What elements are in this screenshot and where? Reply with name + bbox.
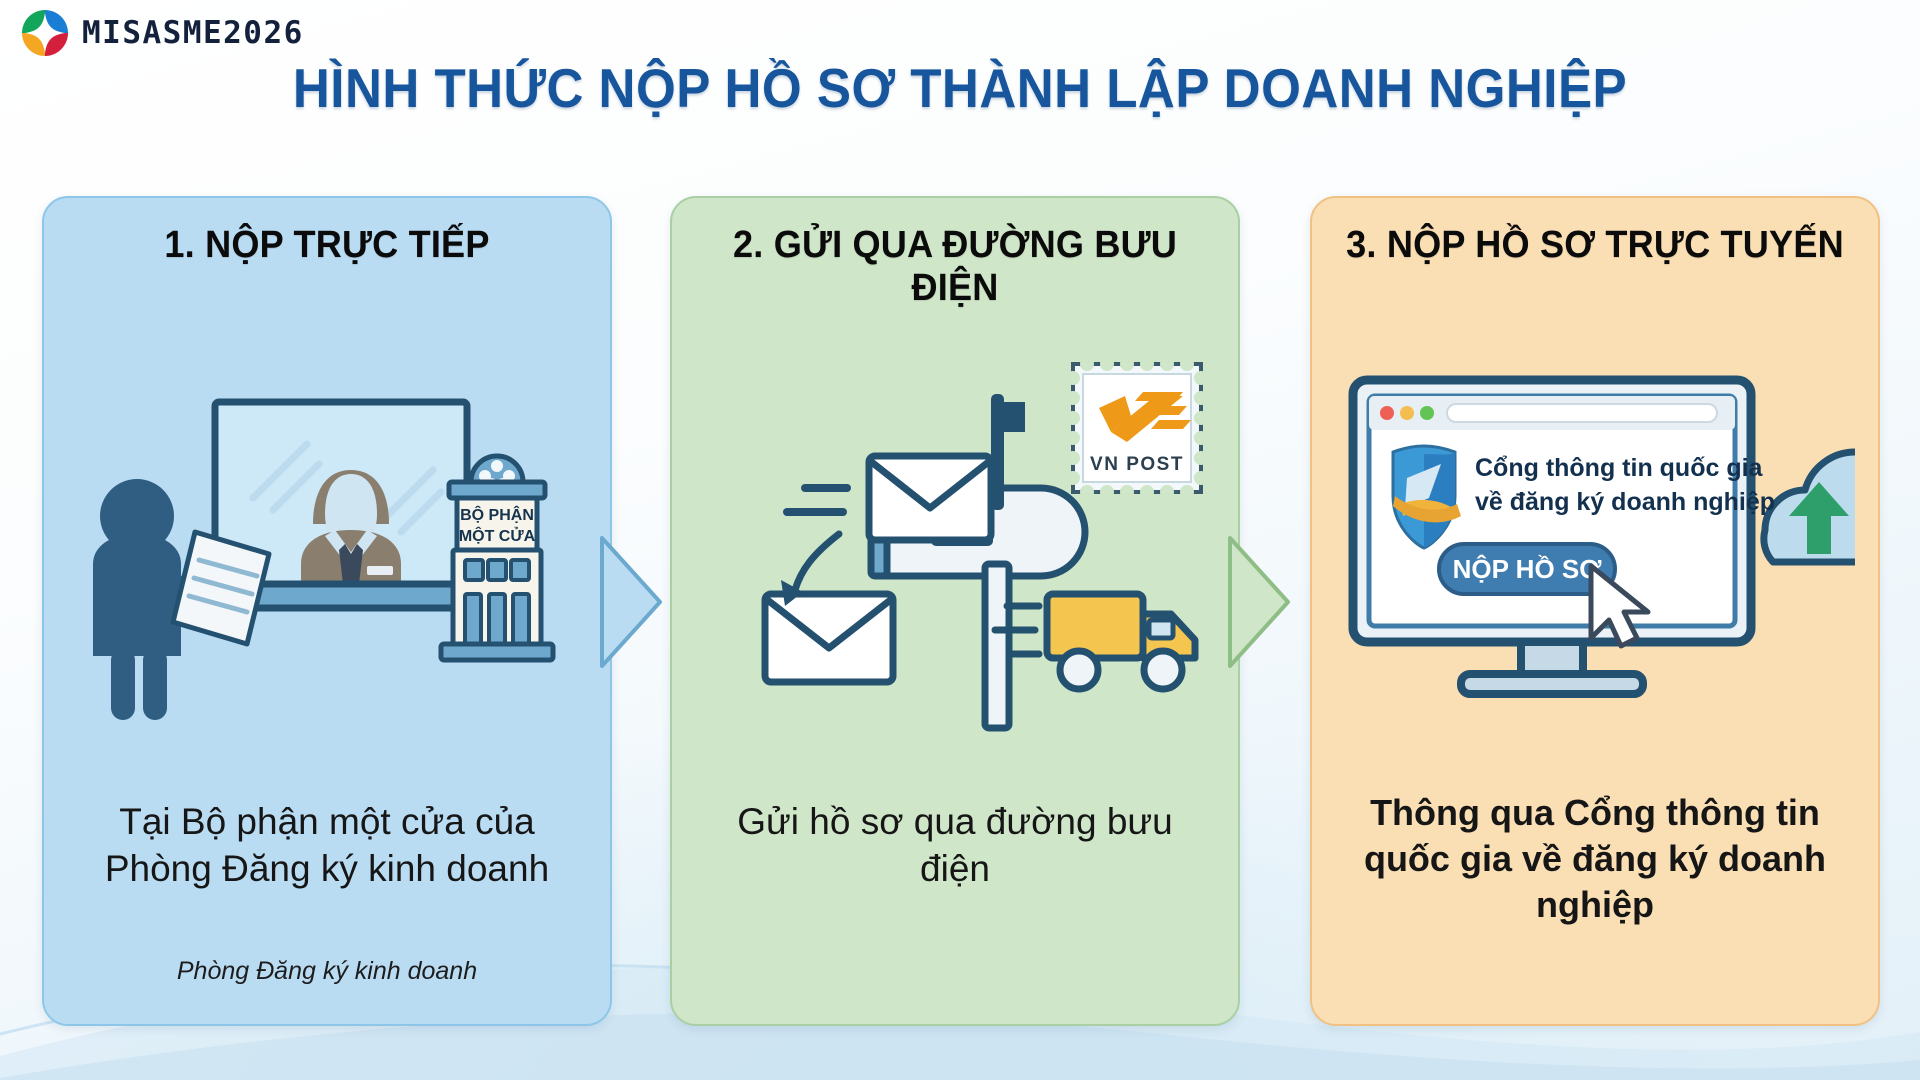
brand-name: MISASME2026 bbox=[82, 15, 304, 51]
vn-post-label: VN POST bbox=[1090, 454, 1184, 475]
envelope-icon-top bbox=[869, 456, 991, 540]
panel-online-submission[interactable]: 3. NỘP HỒ SƠ TRỰC TUYẾN bbox=[1310, 196, 1880, 1026]
portal-title-line1: Cổng thông tin quốc gia bbox=[1475, 454, 1764, 482]
panel-postal-submission[interactable]: 2. GỬI QUA ĐƯỜNG BƯU ĐIỆN bbox=[670, 196, 1240, 1026]
page-title: HÌNH THỨC NỘP HỒ SƠ THÀNH LẬP DOANH NGHI… bbox=[67, 56, 1853, 120]
misa-logo-icon bbox=[22, 10, 68, 56]
nop-ho-so-button-label: NỘP HỒ SƠ bbox=[1453, 554, 1603, 584]
panel-1-note: Phòng Đăng ký kinh doanh bbox=[64, 957, 590, 986]
panel-3-heading: 3. NỘP HỒ SƠ TRỰC TUYẾN bbox=[1343, 224, 1847, 267]
panel-3-illustration: Cổng thông tin quốc gia về đăng ký doanh… bbox=[1312, 348, 1878, 768]
browser-url-bar bbox=[1447, 404, 1717, 422]
panels-container: 1. NỘP TRỰC TIẾP bbox=[0, 196, 1920, 1036]
building-sign-line2: MỘT CỬA bbox=[459, 526, 536, 545]
brand-bar: MISASME2026 bbox=[22, 10, 304, 56]
logo-star-icon bbox=[22, 10, 68, 56]
panel-direct-submission[interactable]: 1. NỘP TRỰC TIẾP bbox=[42, 196, 612, 1026]
panel-1-illustration: BỘ PHẬN MỘT CỬA bbox=[44, 348, 610, 768]
vn-post-stamp-icon: VN POST bbox=[1066, 357, 1208, 499]
envelope-icon-bottom bbox=[765, 594, 893, 682]
panel-1-heading: 1. NỘP TRỰC TIẾP bbox=[75, 224, 579, 267]
traffic-dot-green bbox=[1420, 406, 1434, 420]
panel-2-illustration: VN POST bbox=[672, 348, 1238, 768]
panel-1-body: Tại Bộ phận một cửa của Phòng Đăng ký ki… bbox=[74, 798, 580, 893]
traffic-dot-yellow bbox=[1400, 406, 1414, 420]
traffic-dot-red bbox=[1380, 406, 1394, 420]
panel-3-body: Thông qua Cổng thông tin quốc gia về đăn… bbox=[1342, 790, 1848, 928]
panel-2-body: Gửi hồ sơ qua đường bưu điện bbox=[702, 798, 1208, 893]
arrow-connector-1-to-2 bbox=[600, 536, 672, 668]
panel-2-heading: 2. GỬI QUA ĐƯỜNG BƯU ĐIỆN bbox=[703, 224, 1207, 309]
cloud-upload-icon bbox=[1764, 452, 1855, 562]
building-sign-line1: BỘ PHẬN bbox=[460, 505, 534, 524]
delivery-truck-icon bbox=[995, 594, 1195, 689]
arrow-connector-2-to-3 bbox=[1228, 536, 1300, 668]
portal-title-line2: về đăng ký doanh nghiệp bbox=[1475, 488, 1775, 516]
